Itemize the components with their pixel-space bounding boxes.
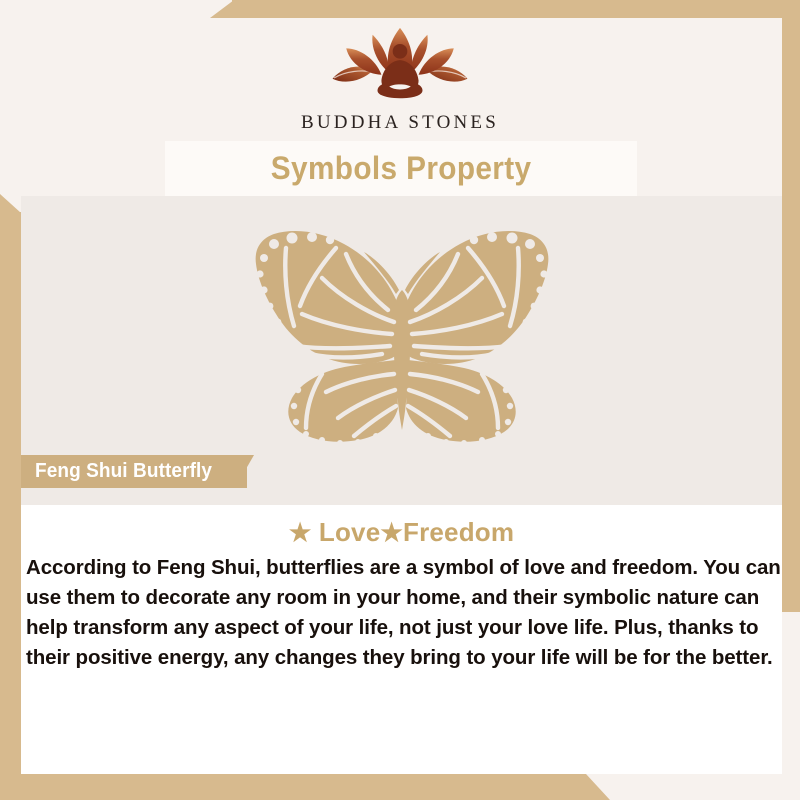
title-band: Symbols Property: [165, 141, 637, 196]
tagline-love: Love: [319, 517, 380, 547]
decor-bottom-bar-tip: [586, 774, 610, 800]
decor-top-bar: [232, 0, 800, 18]
tagline: ★ Love★Freedom: [21, 517, 782, 548]
feature-badge-label: Feng Shui Butterfly: [35, 460, 212, 483]
decor-top-right-corner: [210, 0, 234, 18]
star-icon-left: ★: [289, 519, 312, 547]
decor-left-band: [0, 212, 21, 800]
decor-left-band-tip: [0, 194, 21, 213]
page-title: Symbols Property: [271, 150, 532, 187]
decor-bottom-bar: [0, 774, 586, 800]
star-icon-right: ★: [380, 519, 403, 547]
brand-name: BUDDHA STONES: [301, 112, 499, 134]
feature-badge: Feng Shui Butterfly: [21, 455, 247, 488]
butterfly-icon: [212, 218, 592, 453]
description-paragraph: According to Feng Shui, butterflies are …: [26, 553, 784, 673]
lotus-meditation-figure-icon: [315, 22, 485, 110]
feature-badge-tip: [235, 455, 254, 488]
content-panel: ★ Love★Freedom According to Feng Shui, b…: [21, 505, 782, 774]
tagline-freedom: Freedom: [403, 517, 514, 547]
brand-logo: BUDDHA STONES: [0, 22, 800, 140]
page-root: BUDDHA STONES Symbols Property: [0, 0, 800, 800]
